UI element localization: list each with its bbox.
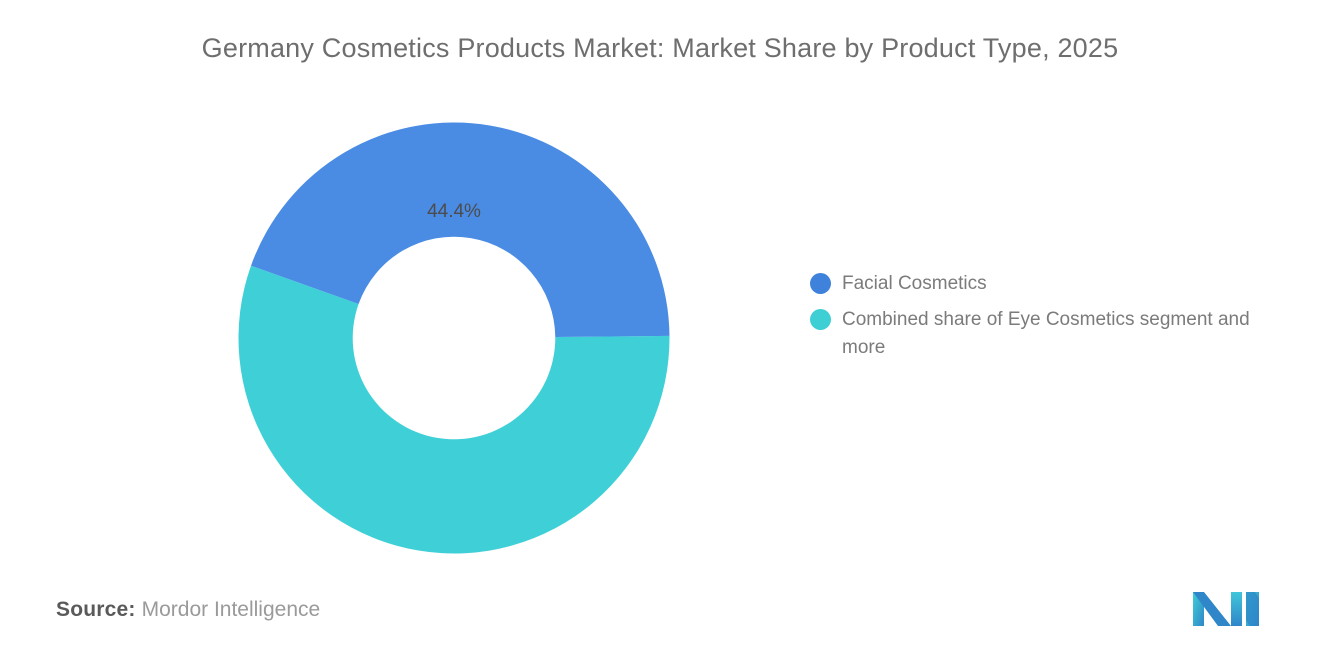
source-label: Source: [56,598,136,621]
chart-legend: Facial Cosmetics Combined share of Eye C… [810,270,1300,370]
chart-plot-area: 44.4% [0,95,790,575]
legend-label-combined-other: Combined share of Eye Cosmetics segment … [842,306,1287,362]
legend-item-facial-cosmetics[interactable]: Facial Cosmetics [810,270,1300,298]
donut-chart: 44.4% [238,122,670,554]
chart-footer: Source:Mordor Intelligence [0,585,1320,665]
legend-swatch-icon-combined-other [810,309,831,330]
mordor-intelligence-logo-svg [1191,588,1263,626]
mordor-intelligence-logo-icon [1191,588,1263,626]
donut-chart-svg [238,122,670,554]
chart-title: Germany Cosmetics Products Market: Marke… [0,28,1320,68]
legend-swatch-icon-facial-cosmetics [810,273,831,294]
source-attribution: Source:Mordor Intelligence [56,595,320,625]
legend-label-facial-cosmetics: Facial Cosmetics [842,270,987,298]
slice-value-label-facial-cosmetics: 44.4% [398,200,510,224]
legend-item-combined-other[interactable]: Combined share of Eye Cosmetics segment … [810,306,1300,362]
source-value: Mordor Intelligence [142,598,321,621]
